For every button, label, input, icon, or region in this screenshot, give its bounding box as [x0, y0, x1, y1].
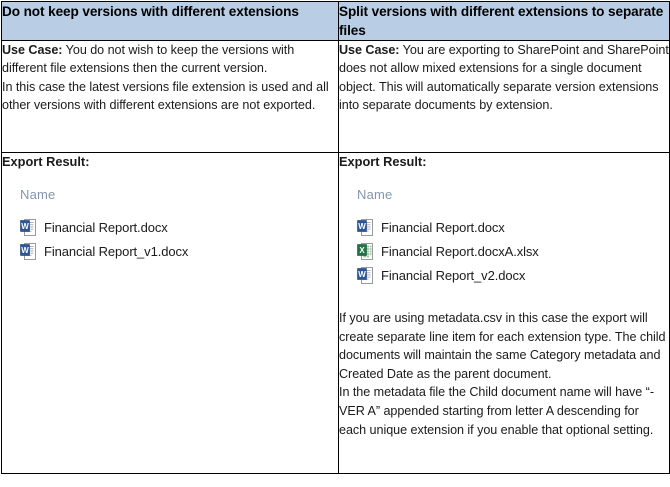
file-list-name-column-header-left: Name	[20, 187, 338, 203]
use-case-cell-left: Use Case: You do not wish to keep the ve…	[2, 41, 339, 153]
table-use-case-row: Use Case: You do not wish to keep the ve…	[2, 41, 670, 153]
export-result-cell-right: Export Result: Name	[339, 153, 670, 474]
use-case-label-right: Use Case:	[339, 43, 399, 57]
comparison-table-page: Do not keep versions with different exte…	[0, 1, 670, 487]
metadata-note-paragraph-1: If you are using metadata.csv in this ca…	[339, 309, 669, 383]
svg-text:W: W	[21, 246, 29, 255]
file-name-label: Financial Report_v2.docx	[381, 267, 525, 284]
export-result-title-left: Export Result:	[2, 153, 338, 170]
svg-text:W: W	[358, 222, 366, 231]
file-name-label: Financial Report.docx	[44, 219, 168, 236]
word-document-icon: W	[357, 219, 374, 236]
file-name-label: Financial Report_v1.docx	[44, 243, 188, 260]
export-result-title-right: Export Result:	[339, 153, 669, 170]
header-cell-split-versions: Split versions with different extensions…	[339, 2, 670, 41]
svg-text:W: W	[21, 222, 29, 231]
header-cell-no-keep-versions: Do not keep versions with different exte…	[2, 2, 339, 41]
list-item[interactable]: W Financial Report.docx	[20, 217, 338, 237]
use-case-label-left: Use Case:	[2, 43, 62, 57]
file-name-label: Financial Report.docxA.xlsx	[381, 243, 539, 260]
file-name-label: Financial Report.docx	[381, 219, 505, 236]
file-list-name-column-header-right: Name	[357, 187, 669, 203]
column-header-title-right: Split versions with different extensions…	[339, 2, 669, 40]
list-item[interactable]: W Financial Report.docx	[357, 217, 669, 237]
versions-comparison-table: Do not keep versions with different exte…	[1, 1, 670, 474]
table-export-result-row: Export Result: Name	[2, 153, 670, 474]
word-document-icon: W	[20, 243, 37, 260]
file-list-left: W Financial Report.docx	[20, 217, 338, 261]
file-list-right: W Financial Report.docx	[357, 217, 669, 285]
list-item[interactable]: W Financial Report_v2.docx	[357, 265, 669, 285]
use-case-paragraph-left: Use Case: You do not wish to keep the ve…	[2, 41, 338, 78]
export-result-cell-left: Export Result: Name	[2, 153, 339, 474]
use-case-paragraph-right: Use Case: You are exporting to SharePoin…	[339, 41, 669, 115]
svg-text:X: X	[359, 246, 365, 255]
list-item[interactable]: W Financial Report_v1.docx	[20, 241, 338, 261]
word-document-icon: W	[20, 219, 37, 236]
use-case-cell-right: Use Case: You are exporting to SharePoin…	[339, 41, 670, 153]
metadata-note-paragraph-2: In the metadata file the Child document …	[339, 383, 669, 439]
use-case-paragraph-left-2: In this case the latest versions file ex…	[2, 78, 338, 115]
list-item[interactable]: X Financial Report.docxA.xlsx	[357, 241, 669, 261]
table-header-row: Do not keep versions with different exte…	[2, 2, 670, 41]
metadata-notes-right: If you are using metadata.csv in this ca…	[339, 309, 669, 439]
svg-text:W: W	[358, 270, 366, 279]
word-document-icon: W	[357, 267, 374, 284]
column-header-title-left: Do not keep versions with different exte…	[2, 2, 338, 21]
excel-spreadsheet-icon: X	[357, 243, 374, 260]
